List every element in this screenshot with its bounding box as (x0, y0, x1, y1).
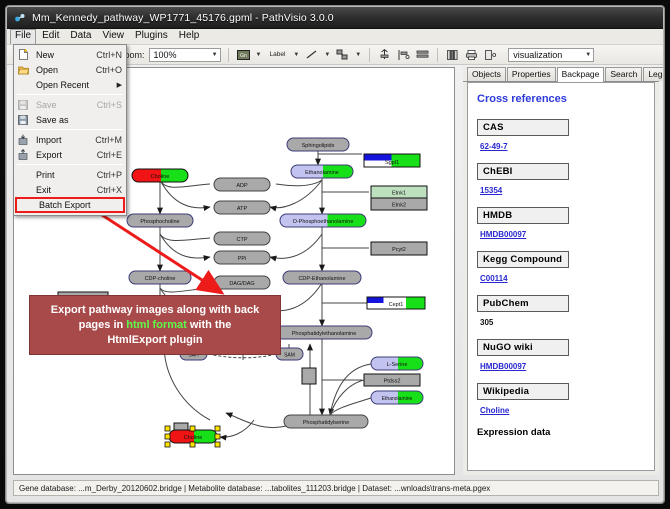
visualization-value: visualization (513, 50, 562, 60)
cross-references-heading: Cross references (477, 93, 645, 105)
menu-item-print[interactable]: Print Ctrl+P (14, 167, 126, 182)
align-top-button[interactable] (377, 47, 392, 62)
xref-label-nugo-wiki: NuGO wiki (477, 339, 569, 356)
datanode-tool-button[interactable]: Gn (236, 47, 251, 62)
svg-text:Ethanolamine: Ethanolamine (305, 170, 339, 176)
gene-node-pcyt2: Pcyt2 (371, 242, 427, 255)
menu-item-batch-export-label: Batch Export (33, 200, 119, 210)
metabolite-node-cdp-choline: CDP-choline (129, 271, 191, 284)
align-left-button[interactable] (396, 47, 411, 62)
zoom-value: 100% (154, 50, 177, 60)
svg-text:Ethanolamine: Ethanolamine (382, 396, 413, 402)
menu-item-save-as[interactable]: Save as (14, 112, 126, 127)
menu-edit[interactable]: Edit (37, 29, 64, 44)
svg-text:Pcyt2: Pcyt2 (392, 247, 406, 253)
xref-label-hmdb: HMDB (477, 207, 569, 224)
menu-item-export-accel: Ctrl+E (93, 150, 122, 160)
metabolite-node-adp: ADP (214, 178, 270, 191)
xref-block-kegg-compound: Kegg Compound C00114 (477, 251, 645, 286)
metabolite-node-ethanolamine-2: Ethanolamine (371, 391, 423, 404)
save-as-icon (16, 113, 30, 126)
side-panel: Objects Properties Backpage Search Legen… (463, 67, 659, 475)
sidebar-toggle-button[interactable] (483, 47, 498, 62)
visualization-combobox[interactable]: visualization ▼ (508, 48, 594, 62)
svg-text:L-Serine: L-Serine (387, 362, 408, 368)
metabolite-node-cdp-ethanolamine: CDP-Ethanolamine (283, 271, 361, 284)
metabolite-node-phosphatidylserine: Phosphatidylserine (284, 415, 368, 428)
print-spacer (16, 168, 30, 181)
callout-line-3: HtmlExport plugin (107, 334, 202, 346)
xref-label-kegg-compound: Kegg Compound (477, 251, 569, 268)
svg-text:Ptdss2: Ptdss2 (384, 379, 401, 385)
svg-text:DAG/DAG: DAG/DAG (229, 281, 254, 287)
xref-block-pubchem: PubChem 305 (477, 295, 645, 330)
gene-node-cept1: Cept1 (367, 297, 425, 309)
zoom-combobox[interactable]: 100% ▼ (149, 48, 221, 62)
menu-item-exit-label: Exit (30, 185, 93, 195)
menu-data[interactable]: Data (65, 29, 96, 44)
new-document-icon (16, 48, 30, 61)
callout-line-2b: with the (187, 319, 232, 331)
menu-item-print-label: Print (30, 170, 93, 180)
menu-item-open-recent-label: Open Recent (30, 80, 117, 90)
gene-node-sgpl1: Sgpl1 (364, 154, 420, 167)
svg-text:Phosphatidylserine: Phosphatidylserine (303, 420, 349, 426)
svg-text:Phosphatidylethanolamine: Phosphatidylethanolamine (292, 331, 357, 337)
xref-value-wikipedia[interactable]: Choline (480, 406, 509, 415)
svg-text:O-Phosphoethanolamine: O-Phosphoethanolamine (293, 219, 354, 225)
submenu-arrow-icon: ▶ (117, 81, 122, 89)
status-bar: Gene database: ...m_Derby_20120602.bridg… (13, 480, 659, 496)
svg-text:Choline: Choline (151, 174, 170, 180)
menu-item-print-accel: Ctrl+P (93, 170, 122, 180)
callout-line-2a: pages in (79, 319, 127, 331)
chevron-down-icon: ▼ (212, 52, 218, 58)
menu-item-open-accel: Ctrl+O (92, 65, 122, 75)
menu-item-new[interactable]: New Ctrl+N (14, 47, 126, 62)
metabolite-node-o-phosphoethanolamine: O-Phosphoethanolamine (280, 214, 366, 227)
svg-text:CDP-choline: CDP-choline (145, 276, 176, 282)
gene-node-etnk1: Etnk1 (371, 186, 427, 198)
menu-item-import[interactable]: Import Ctrl+M (14, 132, 126, 147)
toolbar-separator-2 (369, 48, 370, 62)
menu-item-save-label: Save (30, 100, 93, 110)
gene-node-ptdss2: Ptdss2 (364, 374, 420, 386)
xref-value-chebi[interactable]: 15354 (480, 186, 502, 195)
menu-item-save: Save Ctrl+S (14, 97, 126, 112)
tab-backpage[interactable]: Backpage (557, 67, 605, 82)
callout-highlight: html format (126, 319, 187, 331)
metabolite-node-ethanolamine-1: Ethanolamine (291, 165, 353, 178)
batch-export-spacer (19, 199, 33, 212)
svg-text:Etnk1: Etnk1 (392, 191, 406, 197)
open-folder-icon (16, 63, 30, 76)
menu-item-import-label: Import (30, 135, 91, 145)
xref-block-hmdb: HMDB HMDB00097 (477, 207, 645, 242)
import-icon (16, 133, 30, 146)
xref-value-nugo-wiki[interactable]: HMDB00097 (480, 362, 526, 371)
menu-item-open-label: Open (30, 65, 92, 75)
menu-item-import-accel: Ctrl+M (91, 135, 122, 145)
save-disk-icon (16, 98, 30, 111)
tab-search[interactable]: Search (605, 67, 642, 81)
metabolite-node-l-serine: L-Serine (371, 357, 423, 370)
menu-item-save-accel: Ctrl+S (93, 100, 122, 110)
svg-text:Sgpl1: Sgpl1 (385, 160, 399, 166)
svg-text:ADP: ADP (236, 183, 248, 189)
menu-item-open[interactable]: Open Ctrl+O (14, 62, 126, 77)
svg-text:Phosphocholine: Phosphocholine (140, 219, 179, 225)
xref-label-wikipedia: Wikipedia (477, 383, 569, 400)
anchor-box-1 (302, 368, 316, 384)
file-dropdown-menu[interactable]: New Ctrl+N Open Ctrl+O Open Recent ▶ (13, 44, 127, 216)
menu-item-export[interactable]: Export Ctrl+E (14, 147, 126, 162)
line-tool-button[interactable] (304, 47, 319, 62)
svg-text:SAM: SAM (284, 353, 295, 359)
menu-view[interactable]: View (97, 29, 129, 44)
svg-text:CDP-Ethanolamine: CDP-Ethanolamine (298, 276, 345, 282)
xref-block-cas: CAS 62-49-7 (477, 119, 645, 154)
label-tool-button[interactable]: Label (266, 48, 288, 62)
menu-item-new-label: New (30, 50, 92, 60)
xref-value-cas[interactable]: 62-49-7 (480, 142, 508, 151)
shape-dropdown-icon[interactable]: ▼ (354, 52, 362, 58)
toolbar-separator (228, 48, 229, 62)
columns-button[interactable] (445, 47, 460, 62)
side-panel-tabs[interactable]: Objects Properties Backpage Search Legen… (463, 67, 659, 82)
window-title: Mm_Kennedy_pathway_WP1771_45176.gpml - P… (32, 12, 334, 24)
xref-label-chebi: ChEBI (477, 163, 569, 180)
menu-separator-3 (17, 164, 123, 165)
menu-item-save-as-label: Save as (30, 115, 118, 125)
tab-objects[interactable]: Objects (467, 67, 506, 81)
gene-node-etnk2: Etnk2 (371, 198, 427, 210)
menu-item-batch-export[interactable]: Batch Export (15, 197, 125, 213)
shape-connector-tool-button[interactable] (335, 47, 350, 62)
menu-help[interactable]: Help (174, 29, 205, 44)
metabolite-node-phosphocholine: Phosphocholine (127, 214, 193, 227)
menu-item-new-accel: Ctrl+N (92, 50, 122, 60)
callout-line-1: Export pathway images along with back (51, 304, 259, 316)
xref-value-hmdb[interactable]: HMDB00097 (480, 230, 526, 239)
exit-spacer (16, 183, 30, 196)
application-window: Mm_Kennedy_pathway_WP1771_45176.gpml - P… (6, 6, 664, 503)
tab-properties[interactable]: Properties (507, 67, 556, 81)
line-dropdown-icon[interactable]: ▼ (323, 52, 331, 58)
svg-text:Choline: Choline (184, 435, 203, 441)
open-recent-spacer (16, 78, 30, 91)
svg-text:Gn: Gn (240, 53, 247, 59)
menu-item-export-label: Export (30, 150, 93, 160)
menu-file[interactable]: File (10, 29, 36, 44)
title-bar: Mm_Kennedy_pathway_WP1771_45176.gpml - P… (7, 7, 663, 29)
xref-block-chebi: ChEBI 15354 (477, 163, 645, 198)
svg-text:ATP: ATP (237, 206, 248, 212)
metabolite-node-ppi: PPi (214, 251, 270, 264)
toolbar-separator-3 (437, 48, 438, 62)
metabolite-node-sphingolipids: Sphingolipids (287, 138, 349, 151)
svg-text:Sphingolipids: Sphingolipids (302, 143, 335, 149)
pathvisio-icon (14, 12, 26, 24)
datanode-dropdown-icon[interactable]: ▼ (255, 52, 263, 58)
export-icon (16, 148, 30, 161)
metabolite-node-ctp: CTP (214, 232, 270, 245)
svg-text:Etnk2: Etnk2 (392, 203, 406, 209)
svg-text:Cept1: Cept1 (389, 302, 404, 308)
menu-item-open-recent[interactable]: Open Recent ▶ (14, 77, 126, 92)
xref-block-nugo-wiki: NuGO wiki HMDB00097 (477, 339, 645, 374)
menu-separator-1 (17, 94, 123, 95)
backpage-content: Cross references CAS 62-49-7 ChEBI 15354… (467, 82, 655, 471)
xref-value-kegg-compound[interactable]: C00114 (480, 274, 508, 283)
menu-plugins[interactable]: Plugins (130, 29, 173, 44)
svg-text:PPi: PPi (238, 256, 247, 262)
group-button[interactable] (415, 47, 430, 62)
xref-label-pubchem: PubChem (477, 295, 569, 312)
metabolite-node-choline-top: Choline (132, 169, 188, 182)
xref-block-wikipedia: Wikipedia Choline (477, 383, 645, 418)
xref-value-pubchem: 305 (480, 318, 493, 327)
menu-item-exit[interactable]: Exit Ctrl+X (14, 182, 126, 197)
chevron-down-icon-visualization: ▼ (585, 52, 591, 58)
metabolite-node-choline-bottom-selected: Choline (165, 426, 220, 447)
status-bar-text: Gene database: ...m_Derby_20120602.bridg… (19, 484, 490, 493)
metabolite-node-atp: ATP (214, 201, 270, 214)
metabolite-node-phosphatidylethanolamine: Phosphatidylethanolamine (276, 326, 372, 339)
print-button[interactable] (464, 47, 479, 62)
menu-separator-2 (17, 129, 123, 130)
label-dropdown-icon[interactable]: ▼ (292, 52, 300, 58)
tab-legend[interactable]: Legend (643, 67, 664, 81)
metabolite-node-dag: DAG/DAG (214, 276, 270, 289)
menu-item-exit-accel: Ctrl+X (93, 185, 122, 195)
menu-bar[interactable]: File Edit Data View Plugins Help (7, 29, 663, 45)
annotation-callout: Export pathway images along with back pa… (29, 295, 281, 355)
expression-data-heading: Expression data (477, 427, 645, 438)
xref-label-cas: CAS (477, 119, 569, 136)
svg-text:CTP: CTP (237, 237, 248, 243)
